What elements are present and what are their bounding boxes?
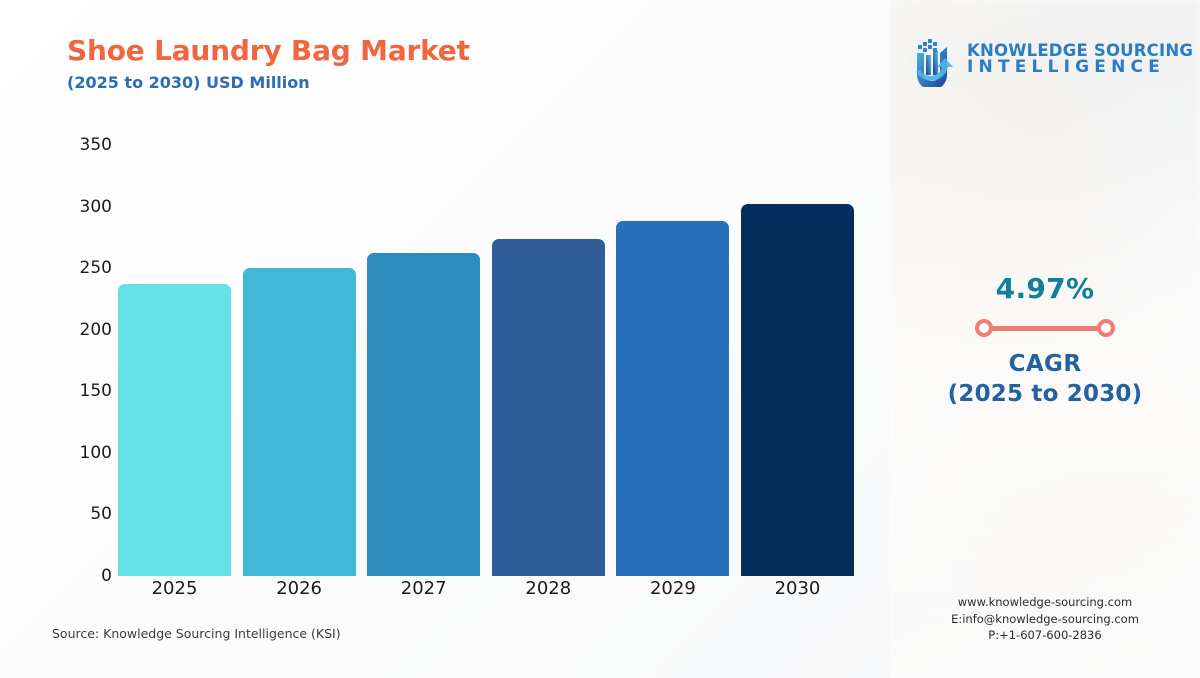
- cagr-value: 4.97%: [890, 272, 1200, 305]
- y-axis-tick: 50: [90, 504, 112, 524]
- knowledge-sourcing-logo-icon: [904, 31, 960, 87]
- x-axis-tick: 2030: [741, 578, 854, 608]
- bar-2027[interactable]: [367, 253, 480, 576]
- bar-slot: [616, 145, 729, 576]
- x-axis-tick: 2028: [492, 578, 605, 608]
- y-axis-tick: 100: [80, 443, 112, 463]
- bar-2026[interactable]: [243, 268, 356, 576]
- cagr-period: (2025 to 2030): [890, 381, 1200, 407]
- cagr-block: 4.97% CAGR (2025 to 2030): [890, 272, 1200, 407]
- contact-phone: P:+1-607-600-2836: [890, 627, 1200, 644]
- contact-info: www.knowledge-sourcing.com E:info@knowle…: [890, 594, 1200, 644]
- branding-panel: KNOWLEDGE SOURCING INTELLIGENCE 4.97% CA…: [890, 0, 1200, 678]
- bar-slot: [118, 145, 231, 576]
- x-axis-tick: 2026: [243, 578, 356, 608]
- y-axis-tick: 350: [80, 135, 112, 155]
- logo-wordmark: KNOWLEDGE SOURCING INTELLIGENCE: [967, 42, 1193, 77]
- chart-title: Shoe Laundry Bag Market: [67, 34, 470, 67]
- chart-panel: Shoe Laundry Bag Market (2025 to 2030) U…: [0, 0, 890, 678]
- bar-2029[interactable]: [616, 221, 729, 576]
- chart-infographic: Shoe Laundry Bag Market (2025 to 2030) U…: [0, 0, 1200, 678]
- divider-dot-right: [1097, 319, 1115, 337]
- y-axis-tick: 150: [80, 381, 112, 401]
- contact-email[interactable]: E:info@knowledge-sourcing.com: [890, 611, 1200, 628]
- plot-area: [118, 145, 854, 576]
- bar-slot: [367, 145, 480, 576]
- divider-dot-left: [975, 319, 993, 337]
- cagr-divider-icon: [975, 319, 1115, 337]
- x-axis-tick: 2029: [616, 578, 729, 608]
- bar-2025[interactable]: [118, 284, 231, 576]
- bar-slot: [243, 145, 356, 576]
- cagr-label: CAGR: [890, 351, 1200, 377]
- x-axis-tick: 2025: [118, 578, 231, 608]
- y-axis-tick: 0: [101, 566, 112, 586]
- chart-subtitle: (2025 to 2030) USD Million: [67, 73, 310, 92]
- x-axis: 202520262027202820292030: [118, 578, 854, 608]
- bar-series: [118, 145, 854, 576]
- contact-website[interactable]: www.knowledge-sourcing.com: [890, 594, 1200, 611]
- y-axis-tick: 300: [80, 197, 112, 217]
- bar-2030[interactable]: [741, 204, 854, 576]
- bar-slot: [492, 145, 605, 576]
- company-logo: KNOWLEDGE SOURCING INTELLIGENCE: [904, 28, 1190, 90]
- bar-slot: [741, 145, 854, 576]
- y-axis: 350300250200150100500: [60, 145, 112, 576]
- y-axis-tick: 250: [80, 258, 112, 278]
- bar-2028[interactable]: [492, 239, 605, 576]
- x-axis-tick: 2027: [367, 578, 480, 608]
- divider-line: [984, 326, 1106, 331]
- source-note: Source: Knowledge Sourcing Intelligence …: [52, 626, 341, 641]
- logo-line-2: INTELLIGENCE: [967, 59, 1193, 77]
- y-axis-tick: 200: [80, 320, 112, 340]
